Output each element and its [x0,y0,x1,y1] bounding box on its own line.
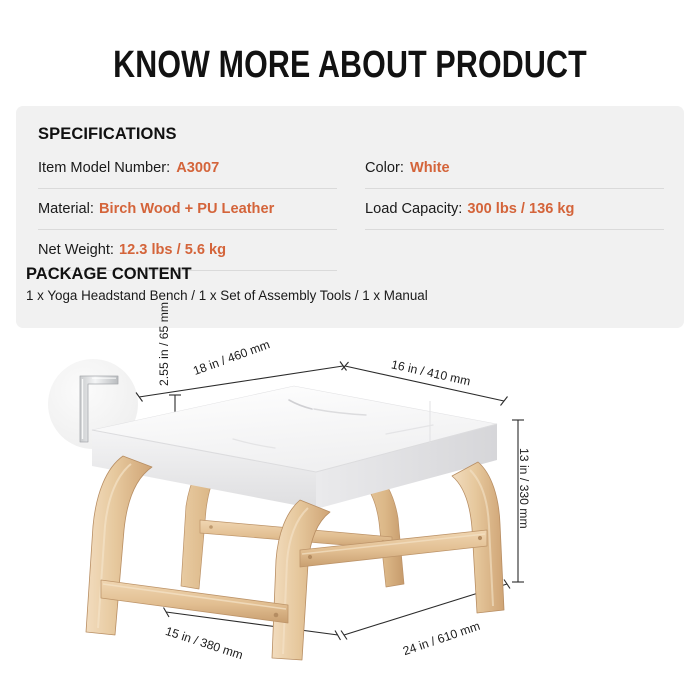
spec-row-load-capacity: Load Capacity: 300 lbs / 136 kg [365,189,664,230]
specifications-right-column: Color: White Load Capacity: 300 lbs / 13… [365,116,664,271]
package-content-block: PACKAGE CONTENT 1 x Yoga Headstand Bench… [26,264,666,304]
spec-row-color: Color: White [365,148,664,189]
spec-row-model-number: Item Model Number: A3007 [38,148,337,189]
right-column-head-spacer [365,122,664,146]
leg-front-right [272,500,330,660]
leg-front-left [86,456,152,635]
dimension-label-overall-height: 13 in / 330 mm [517,448,531,529]
spec-row-material: Material: Birch Wood + PU Leather [38,189,337,230]
spec-value-net-weight: 12.3 lbs / 5.6 kg [119,242,226,258]
specifications-heading: SPECIFICATIONS [38,122,337,146]
spec-value-model-number: A3007 [176,160,219,176]
spec-value-material: Birch Wood + PU Leather [99,201,274,217]
spec-value-load-capacity: 300 lbs / 136 kg [467,201,574,217]
spec-label-net-weight: Net Weight: [38,242,114,258]
page-title: KNOW MORE ABOUT PRODUCT [70,44,630,87]
dimension-label-seat-thickness: 2.55 in / 65 mm [157,302,171,386]
specifications-panel: SPECIFICATIONS Item Model Number: A3007 … [16,106,684,328]
specifications-left-column: SPECIFICATIONS Item Model Number: A3007 … [38,116,337,271]
package-content-heading: PACKAGE CONTENT [26,264,666,284]
spec-label-model-number: Item Model Number: [38,160,170,176]
specifications-grid: SPECIFICATIONS Item Model Number: A3007 … [38,116,664,271]
spec-label-color: Color: [365,160,404,176]
yoga-headstand-bench [86,386,504,660]
spec-label-material: Material: [38,201,94,217]
product-diagram [0,334,700,700]
package-content-items: 1 x Yoga Headstand Bench / 1 x Set of As… [26,287,666,304]
spec-value-color: White [410,160,450,176]
seat-cushion [92,386,497,509]
spec-label-load-capacity: Load Capacity: [365,201,462,217]
